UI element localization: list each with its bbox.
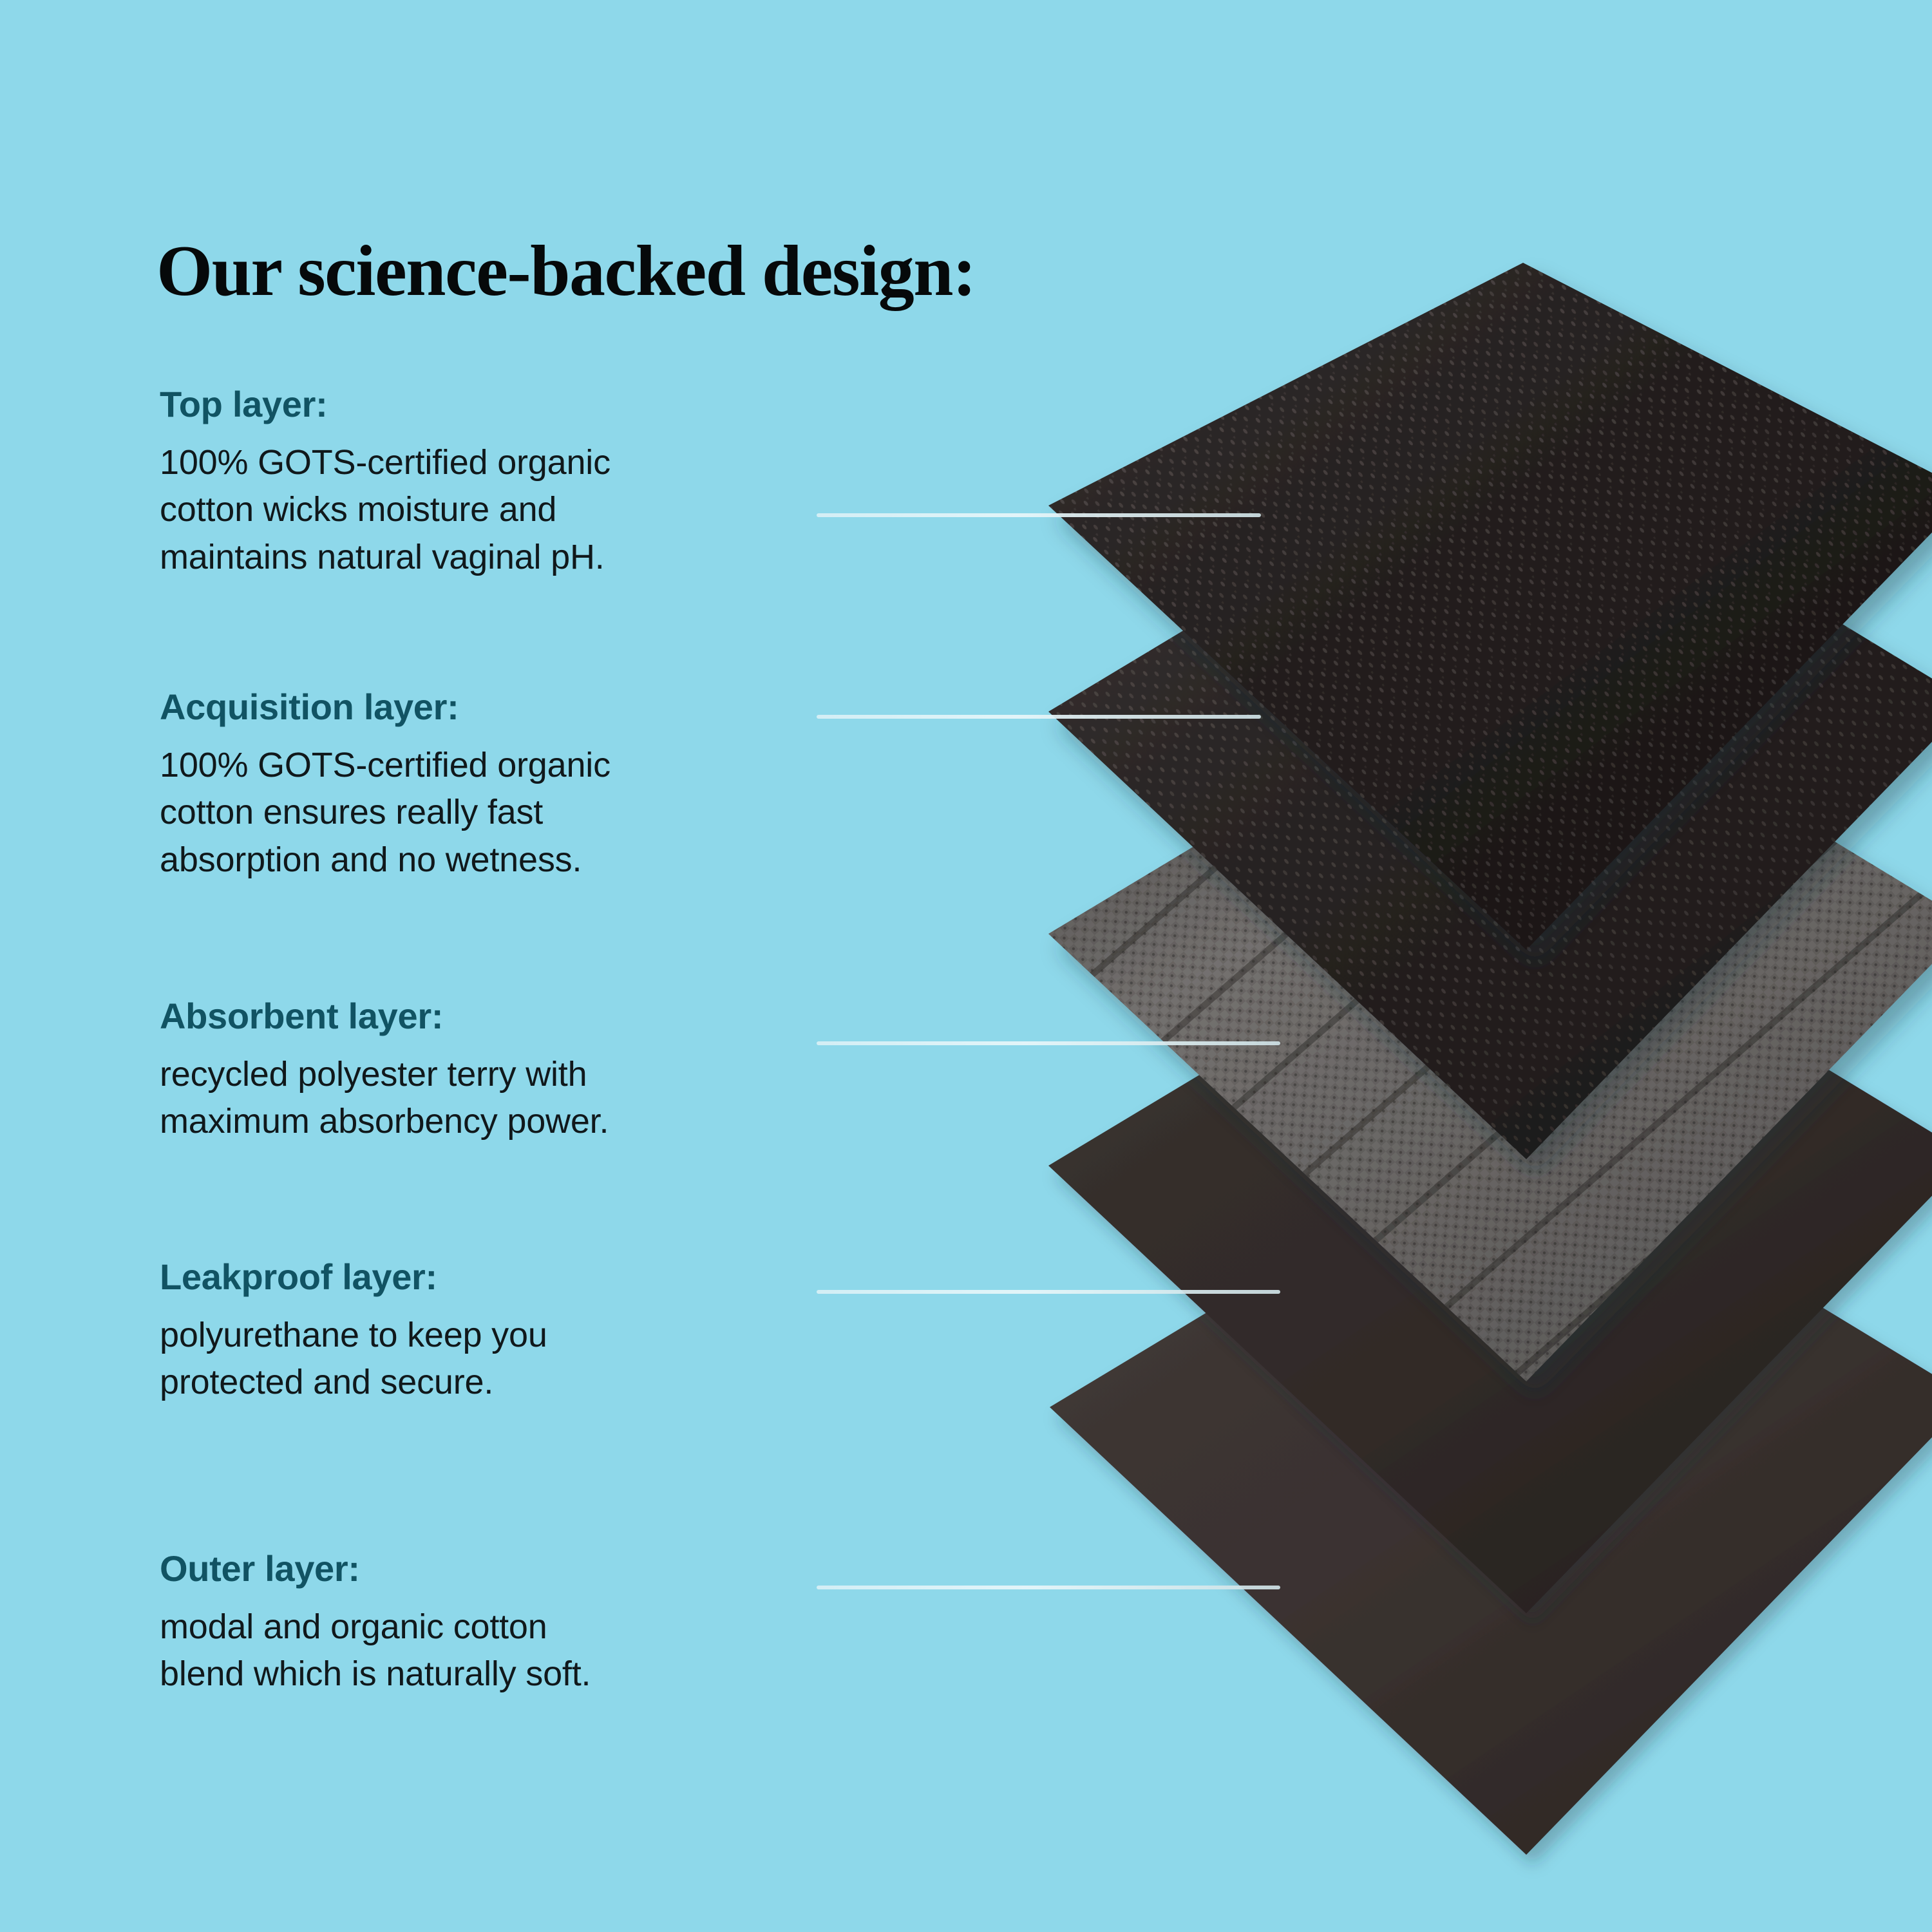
- leader-line-outer-layer: [817, 1586, 1280, 1589]
- leader-line-top-layer: [817, 513, 1261, 517]
- leader-line-absorbent-layer: [817, 1041, 1280, 1045]
- layer-stack-illustration: [0, 0, 1932, 1932]
- leader-line-acquisition-layer: [817, 715, 1261, 719]
- leader-line-leakproof-layer: [817, 1290, 1280, 1294]
- infographic-canvas: Our science-backed design: Top layer: 10…: [0, 0, 1932, 1932]
